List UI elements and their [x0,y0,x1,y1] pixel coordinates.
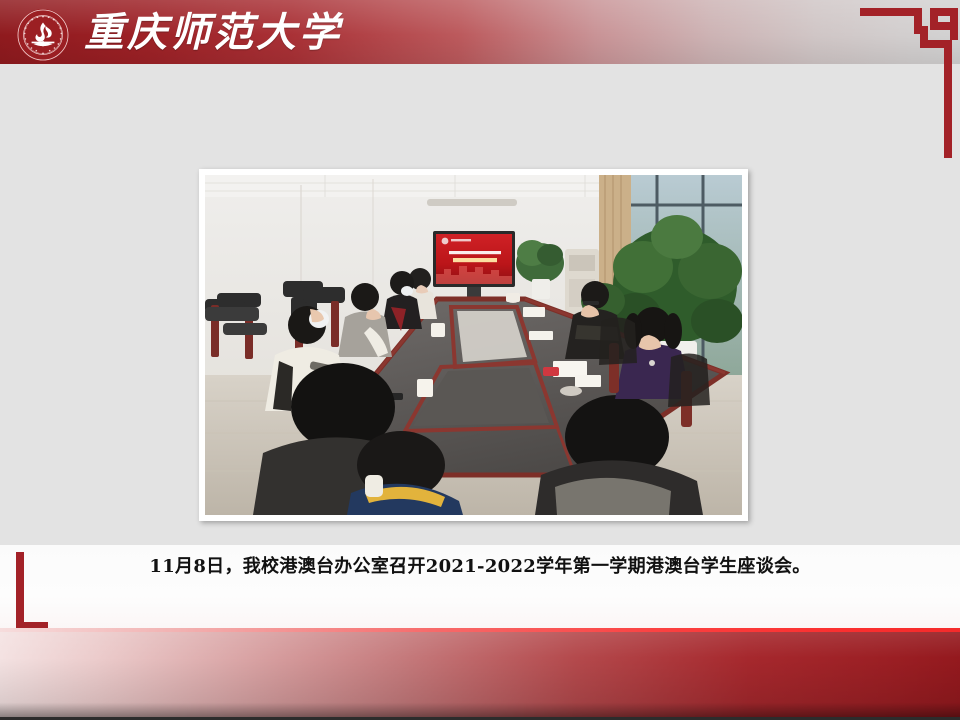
meeting-photo-frame [199,169,748,521]
slide-page: 重庆师范大学 [0,0,960,720]
caption-text: 11月8日，我校港澳台办公室召开2021-2022学年第一学期港澳台学生座谈会。 [0,552,960,578]
university-name-text: 重庆师范大学 [84,13,342,53]
university-wordmark: 重庆师范大学 [84,6,342,60]
corner-ornament-top-right [860,8,960,158]
university-seal-icon [16,8,70,62]
meeting-photo [205,175,742,515]
header-banner: 重庆师范大学 [0,0,960,64]
footer-band [0,632,960,718]
